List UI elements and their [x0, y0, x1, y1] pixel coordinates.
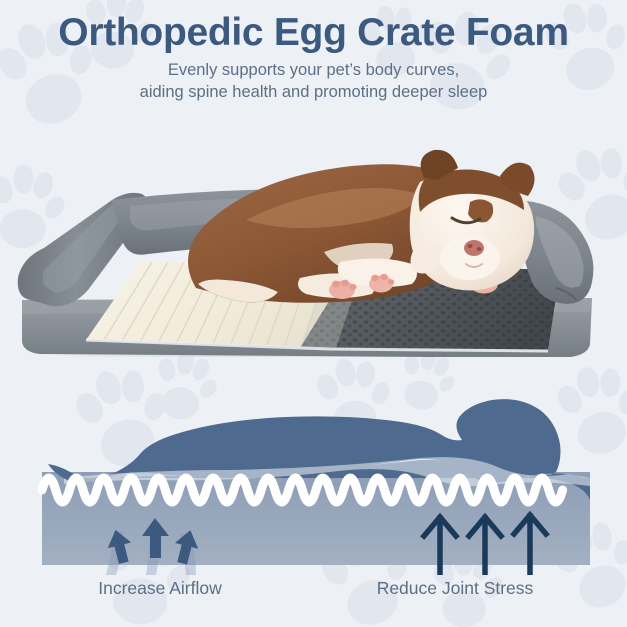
header: Orthopedic Egg Crate Foam Evenly support… — [0, 0, 627, 104]
dog-bed-photo-illustration — [0, 112, 627, 357]
infographic-canvas: Orthopedic Egg Crate Foam Evenly support… — [0, 0, 627, 627]
caption-row: Increase Airflow Reduce Joint Stress — [0, 578, 627, 618]
caption-reduce-joint-stress: Reduce Joint Stress — [330, 578, 580, 599]
husky-puppy — [188, 150, 535, 303]
puppy-nostril-left — [467, 244, 472, 248]
joint-stress-arrows — [424, 515, 546, 575]
diagram-svg — [0, 360, 627, 575]
page-subtitle: Evenly supports your pet’s body curves, … — [0, 52, 627, 104]
subtitle-line-1: Evenly supports your pet’s body curves, — [168, 61, 459, 79]
page-title: Orthopedic Egg Crate Foam — [0, 0, 627, 52]
product-photo — [0, 112, 627, 357]
subtitle-line-2: aiding spine health and promoting deeper… — [0, 82, 627, 104]
puppy-nostril-right — [477, 247, 482, 251]
caption-increase-airflow: Increase Airflow — [40, 578, 280, 599]
foam-cross-section-diagram — [0, 360, 627, 575]
